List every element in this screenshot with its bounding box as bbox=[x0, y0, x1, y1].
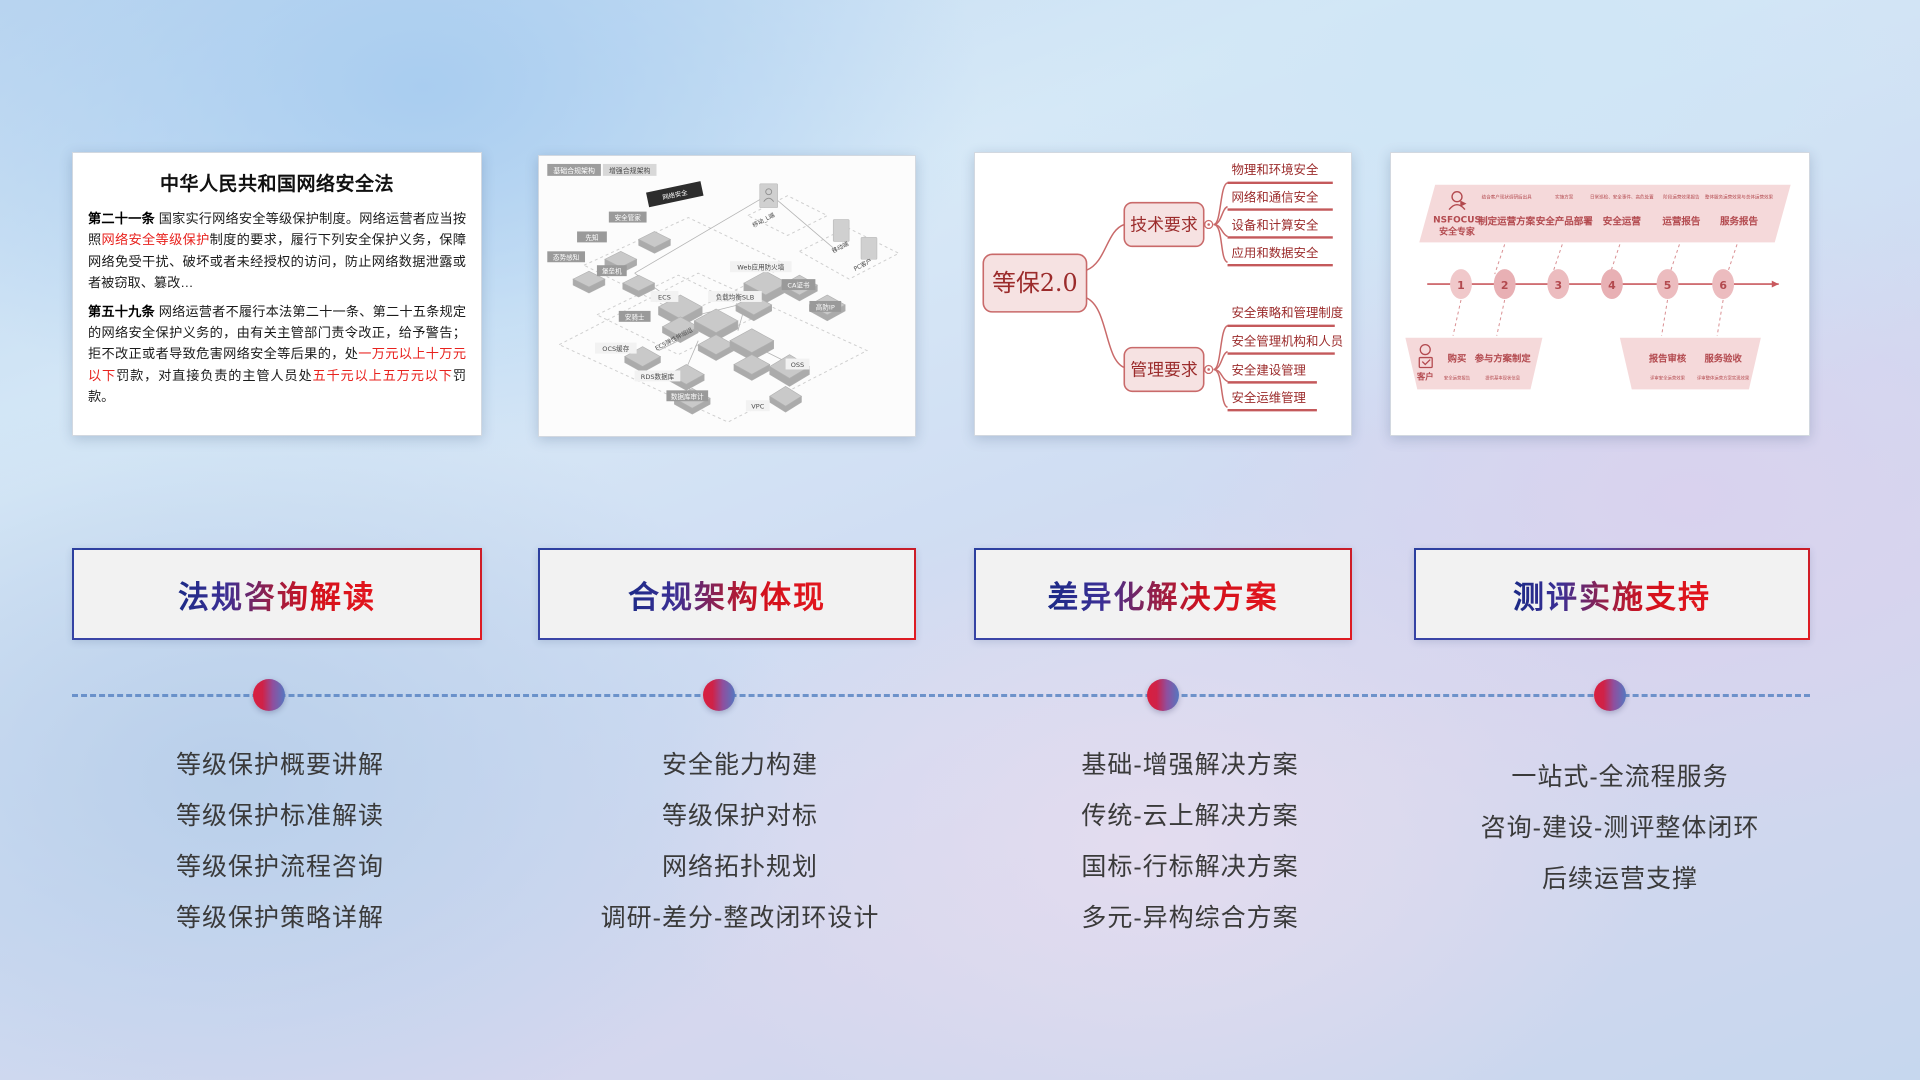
process-top-role: NSFOCUS bbox=[1433, 216, 1481, 226]
service-list-4: 一站式-全流程服务 咨询-建设-测评整体闭环 后续运营支撑 bbox=[1410, 752, 1830, 905]
list-item: 咨询-建设-测评整体闭环 bbox=[1410, 803, 1830, 854]
headline-box-3-label: 差异化解决方案 bbox=[1048, 572, 1279, 617]
dengbao-mindmap: 等保2.0 技术要求 物理和环境安全 网络和通信安全 设备和计算安全 应 bbox=[975, 153, 1351, 435]
service-list-3: 基础-增强解决方案 传统-云上解决方案 国标-行标解决方案 多元-异构综合方案 bbox=[960, 740, 1420, 944]
list-item: 国标-行标解决方案 bbox=[960, 842, 1420, 893]
headline-box-1[interactable]: 法规咨询解读 bbox=[72, 548, 482, 640]
arch-node-gaofangip: 高防IP bbox=[816, 302, 835, 311]
process-top-role-sub: 安全专家 bbox=[1439, 225, 1475, 237]
headline-box-4[interactable]: 测评实施支持 bbox=[1414, 548, 1810, 640]
service-list-1: 等级保护概要讲解 等级保护标准解读 等级保护流程咨询 等级保护策略详解 bbox=[60, 740, 500, 944]
law-article-21: 第二十一条 国家实行网络安全等级保护制度。网络运营者应当按照网络安全等级保护制度… bbox=[88, 208, 466, 294]
arch-node-ocshuancun: OCS缓存 bbox=[602, 344, 629, 353]
list-item: 后续运营支撑 bbox=[1410, 854, 1830, 905]
process-top-caption-1: 结合客户现状调研后出具 bbox=[1482, 194, 1532, 201]
arch-tab-basic[interactable]: 基础合规架构 bbox=[553, 166, 595, 175]
law-title: 中华人民共和国网络安全法 bbox=[88, 169, 466, 196]
arch-tab-enhanced[interactable]: 增强合规架构 bbox=[609, 166, 651, 175]
list-item: 传统-云上解决方案 bbox=[960, 791, 1420, 842]
process-bottom-label-3: 报告审核 bbox=[1649, 353, 1687, 365]
arch-node-baoleiji: 堡垒机 bbox=[602, 267, 622, 276]
headline-box-4-label: 测评实施支持 bbox=[1513, 572, 1711, 617]
process-top-caption-3: 日常巡检、安全事件、高危处置 bbox=[1590, 194, 1654, 201]
process-axis-num-4: 4 bbox=[1608, 279, 1616, 292]
list-item: 一站式-全流程服务 bbox=[1410, 752, 1830, 803]
process-top-caption-5: 整体服务运营效果与总体运营效果 bbox=[1705, 194, 1774, 201]
arch-node-rdsshujuku: RDS数据库 bbox=[641, 372, 675, 381]
list-item: 调研-差分-整改闭环设计 bbox=[520, 893, 960, 944]
timeline-dashed-line bbox=[72, 694, 1810, 697]
service-list-2: 安全能力构建 等级保护对标 网络拓扑规划 调研-差分-整改闭环设计 bbox=[520, 740, 960, 944]
mindmap-leaf-2-1: 安全策略和管理制度 bbox=[1232, 305, 1344, 320]
process-top-label-3: 安全运营 bbox=[1603, 215, 1642, 227]
nsfocus-process-diagram: NSFOCUS 安全专家 结合客户现状调研后出具 制定运营方案 实施方案 安全产… bbox=[1391, 153, 1809, 435]
list-item: 安全能力构建 bbox=[520, 740, 960, 791]
mindmap-leaf-2-3: 安全建设管理 bbox=[1232, 362, 1306, 377]
law-article-59-label: 第五十九条 bbox=[88, 304, 155, 319]
process-bottom-caption-4: 评审整体运营方案实现效果 bbox=[1697, 374, 1750, 381]
list-item: 多元-异构综合方案 bbox=[960, 893, 1420, 944]
architecture-diagram: 基础合规架构 增强合规架构 网络安全 bbox=[539, 156, 915, 436]
process-bottom-label-2: 参与方案制定 bbox=[1475, 353, 1532, 365]
mindmap-root-label: 等保2.0 bbox=[992, 269, 1078, 297]
mindmap-branch-1-label: 技术要求 bbox=[1130, 214, 1198, 234]
list-item: 等级保护策略详解 bbox=[60, 893, 500, 944]
arch-node-anquanguanjia: 安全管家 bbox=[615, 213, 642, 222]
list-item: 等级保护对标 bbox=[520, 791, 960, 842]
process-bottom-caption-2: 提供基本现状信息 bbox=[1485, 374, 1521, 381]
process-bottom-label-1: 购买 bbox=[1448, 353, 1467, 365]
mindmap-branch-2-label: 管理要求 bbox=[1130, 359, 1198, 379]
arch-node-cazhengshu: CA证书 bbox=[787, 281, 810, 290]
process-top-label-2: 安全产品部署 bbox=[1536, 215, 1594, 227]
law-article-21-highlight: 网络安全等级保护 bbox=[102, 232, 210, 247]
process-bottom-role: 客户 bbox=[1416, 371, 1434, 381]
card-nsfocus-process[interactable]: NSFOCUS 安全专家 结合客户现状调研后出具 制定运营方案 实施方案 安全产… bbox=[1390, 152, 1810, 436]
arch-node-xianzhi: 先知 bbox=[585, 233, 598, 242]
card-dengbao-mindmap[interactable]: 等保2.0 技术要求 物理和环境安全 网络和通信安全 设备和计算安全 应 bbox=[974, 152, 1352, 436]
mindmap-leaf-1-2: 网络和通信安全 bbox=[1232, 190, 1319, 205]
process-axis-num-6: 6 bbox=[1719, 279, 1727, 292]
arch-node-vpc: VPC bbox=[751, 403, 764, 411]
mindmap-leaf-1-1: 物理和环境安全 bbox=[1232, 162, 1319, 177]
process-top-caption-2: 实施方案 bbox=[1555, 194, 1574, 201]
arch-node-oss: OSS bbox=[791, 361, 804, 369]
law-article-59: 第五十九条 网络运营者不履行本法第二十一条、第二十五条规定的网络安全保护义务的，… bbox=[88, 301, 466, 408]
process-top-label-4: 运营报告 bbox=[1662, 215, 1701, 227]
process-axis-num-2: 2 bbox=[1501, 279, 1509, 292]
process-top-caption-4: 阶段运营效果报告 bbox=[1663, 194, 1700, 201]
arch-node-shujukushenji: 数据库审计 bbox=[671, 392, 704, 401]
timeline-dot-3[interactable] bbox=[1147, 679, 1179, 711]
mindmap-leaf-1-3: 设备和计算安全 bbox=[1232, 217, 1319, 232]
process-axis-num-1: 1 bbox=[1457, 279, 1465, 292]
process-axis-num-5: 5 bbox=[1664, 279, 1672, 292]
law-article-21-label: 第二十一条 bbox=[88, 211, 155, 226]
list-item: 等级保护概要讲解 bbox=[60, 740, 500, 791]
timeline-dot-2[interactable] bbox=[703, 679, 735, 711]
headline-box-1-label: 法规咨询解读 bbox=[178, 572, 376, 617]
headline-box-3[interactable]: 差异化解决方案 bbox=[974, 548, 1352, 640]
page-content: 中华人民共和国网络安全法 第二十一条 国家实行网络安全等级保护制度。网络运营者应… bbox=[0, 0, 1920, 1080]
headline-box-2[interactable]: 合规架构体现 bbox=[538, 548, 916, 640]
list-item: 网络拓扑规划 bbox=[520, 842, 960, 893]
mindmap-leaf-2-2: 安全管理机构和人员 bbox=[1232, 334, 1344, 349]
list-item: 等级保护标准解读 bbox=[60, 791, 500, 842]
process-bottom-caption-3: 评审安全运营效果 bbox=[1650, 374, 1686, 381]
timeline-dot-1[interactable] bbox=[253, 679, 285, 711]
list-item: 基础-增强解决方案 bbox=[960, 740, 1420, 791]
process-top-label-5: 服务报告 bbox=[1720, 215, 1759, 227]
law-article-59-highlight-2: 五千元以上五万元以下 bbox=[313, 368, 453, 383]
arch-node-slb: 负载均衡SLB bbox=[716, 292, 755, 301]
timeline-dot-4[interactable] bbox=[1594, 679, 1626, 711]
arch-node-webwaf: Web应用防火墙 bbox=[737, 263, 784, 272]
process-top-label-1: 制定运营方案 bbox=[1478, 215, 1536, 227]
mindmap-leaf-2-4: 安全运维管理 bbox=[1232, 390, 1306, 405]
arch-node-ecs: ECS bbox=[658, 293, 671, 301]
arch-node-taishiganzhi: 态势感知 bbox=[553, 253, 579, 262]
list-item: 等级保护流程咨询 bbox=[60, 842, 500, 893]
process-bottom-caption-1: 安全运营报告 bbox=[1444, 374, 1471, 381]
card-compliance-architecture[interactable]: 基础合规架构 增强合规架构 网络安全 bbox=[538, 155, 916, 437]
mindmap-leaf-1-4: 应用和数据安全 bbox=[1232, 245, 1319, 260]
process-axis-num-3: 3 bbox=[1554, 279, 1562, 292]
arch-node-anqishi: 安骑士 bbox=[625, 312, 645, 321]
law-article-59-text-b: 罚款，对直接负责的主管人员处 bbox=[116, 368, 312, 383]
card-cybersecurity-law[interactable]: 中华人民共和国网络安全法 第二十一条 国家实行网络安全等级保护制度。网络运营者应… bbox=[72, 152, 482, 436]
headline-box-2-label: 合规架构体现 bbox=[628, 572, 826, 617]
process-bottom-label-4: 服务验收 bbox=[1704, 353, 1742, 365]
